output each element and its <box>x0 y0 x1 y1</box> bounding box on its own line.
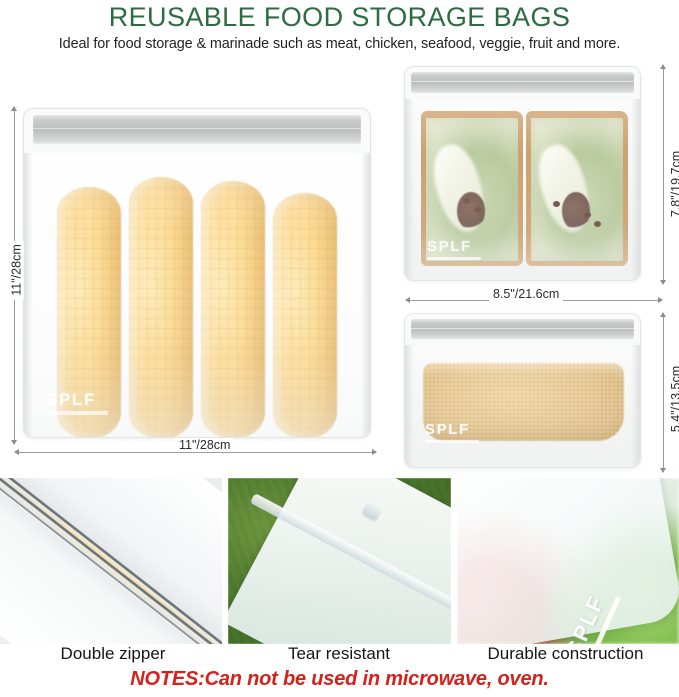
dimension-arrow-left <box>405 297 410 303</box>
feature-caption-durable-construction: Durable construction <box>452 644 679 664</box>
dimension-arrow-left <box>14 449 19 455</box>
red-bean <box>553 201 560 207</box>
bag-corner <box>457 478 679 644</box>
bag-edge-left <box>405 345 414 468</box>
sandwich-bag-body <box>405 99 640 281</box>
feature-panel-row: SPLF <box>0 478 679 644</box>
corn-cob <box>57 187 121 438</box>
red-bean <box>463 198 470 204</box>
red-bean <box>584 212 591 218</box>
bag-edge-right <box>631 345 640 468</box>
feature-caption-tear-resistant: Tear resistant <box>226 644 452 664</box>
dimension-line-sandwich-height <box>663 68 664 280</box>
feature-panel-tear-resistant <box>228 478 450 644</box>
red-bean <box>594 221 601 227</box>
dimension-line-gallon-width <box>18 452 376 453</box>
product-infographic: REUSABLE FOOD STORAGE BAGS Ideal for foo… <box>0 0 679 697</box>
product-image-sandwich-bag: SPLF <box>404 66 641 281</box>
grain-contents <box>423 363 624 441</box>
bread-slice <box>421 111 523 266</box>
dimension-label-sandwich-height: 7.8"/19.7cm <box>669 147 679 221</box>
corn-cob <box>129 177 193 438</box>
dimension-line-snack-height <box>663 316 664 468</box>
dimension-label-snack-height: 5.4"/13.5cm <box>669 362 679 436</box>
gallon-bag-body <box>24 153 370 438</box>
zipper-seal <box>411 72 634 94</box>
snack-bag-body <box>405 345 640 468</box>
dimension-label-sandwich-width: 8.5"/21.6cm <box>489 287 563 301</box>
corn-cob <box>201 181 265 438</box>
dimension-arrow-up <box>660 64 666 69</box>
notes-warning: NOTES:Can not be used in microwave, oven… <box>0 668 679 691</box>
page-subtitle: Ideal for food storage & marinade such a… <box>0 36 679 52</box>
feature-panel-durable-construction: SPLF <box>457 478 679 644</box>
dimension-label-gallon-height: 11"/28cm <box>10 240 24 299</box>
dimension-arrow-right <box>372 449 377 455</box>
corn-contents <box>24 153 370 438</box>
dimension-arrow-up <box>660 312 666 317</box>
corn-cob <box>273 193 337 438</box>
zipper-seal <box>411 319 634 340</box>
dimension-arrow-down <box>660 280 666 285</box>
dimension-arrow-down <box>11 440 17 445</box>
dimension-arrow-down <box>660 468 666 473</box>
bread-slice <box>526 111 628 266</box>
product-image-snack-bag: SPLF <box>404 313 641 468</box>
bag-edge-right <box>631 99 640 281</box>
dimension-label-gallon-width: 11"/28cm <box>175 438 234 452</box>
red-bean <box>474 207 481 213</box>
bread-contents <box>421 111 628 266</box>
dimension-arrow-right <box>658 297 663 303</box>
dimension-arrow-up <box>11 106 17 111</box>
product-image-gallon-bag: SPLF <box>23 108 371 438</box>
page-title: REUSABLE FOOD STORAGE BAGS <box>0 2 679 33</box>
feature-panel-double-zipper <box>0 478 222 644</box>
bag-edge-left <box>405 99 414 281</box>
zipper-seal <box>33 115 362 145</box>
feature-caption-double-zipper: Double zipper <box>0 644 226 664</box>
